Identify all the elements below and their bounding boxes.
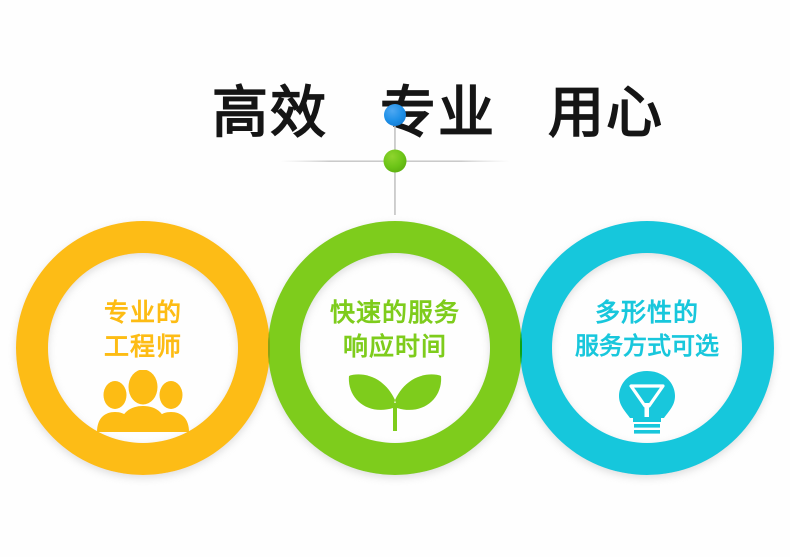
infographic-canvas: 高效专业用心: [0, 0, 790, 557]
bubble-engineers-line-2: 工程师: [18, 330, 268, 364]
lightbulb-icon: [611, 369, 683, 435]
bubble-response-time: 快速的服务 响应时间: [270, 296, 520, 432]
bubble-response-line-1: 快速的服务: [270, 296, 520, 330]
bubble-engineers: 专业的 工程师: [18, 296, 268, 432]
lightbulb-icon-wrap: [522, 369, 772, 435]
bubble-engineers-line-1: 专业的: [18, 296, 268, 330]
people-icon-wrap: [18, 370, 268, 432]
venn-rings: [0, 0, 790, 557]
bubble-service-line-2: 服务方式可选: [522, 330, 772, 363]
sprout-leaf-icon-wrap: [270, 370, 520, 432]
people-icon: [95, 370, 191, 432]
sprout-leaf-icon: [343, 370, 447, 432]
bubble-service-modes: 多形性的 服务方式可选: [522, 296, 772, 435]
bubble-response-line-2: 响应时间: [270, 330, 520, 364]
bubble-service-line-1: 多形性的: [522, 296, 772, 330]
